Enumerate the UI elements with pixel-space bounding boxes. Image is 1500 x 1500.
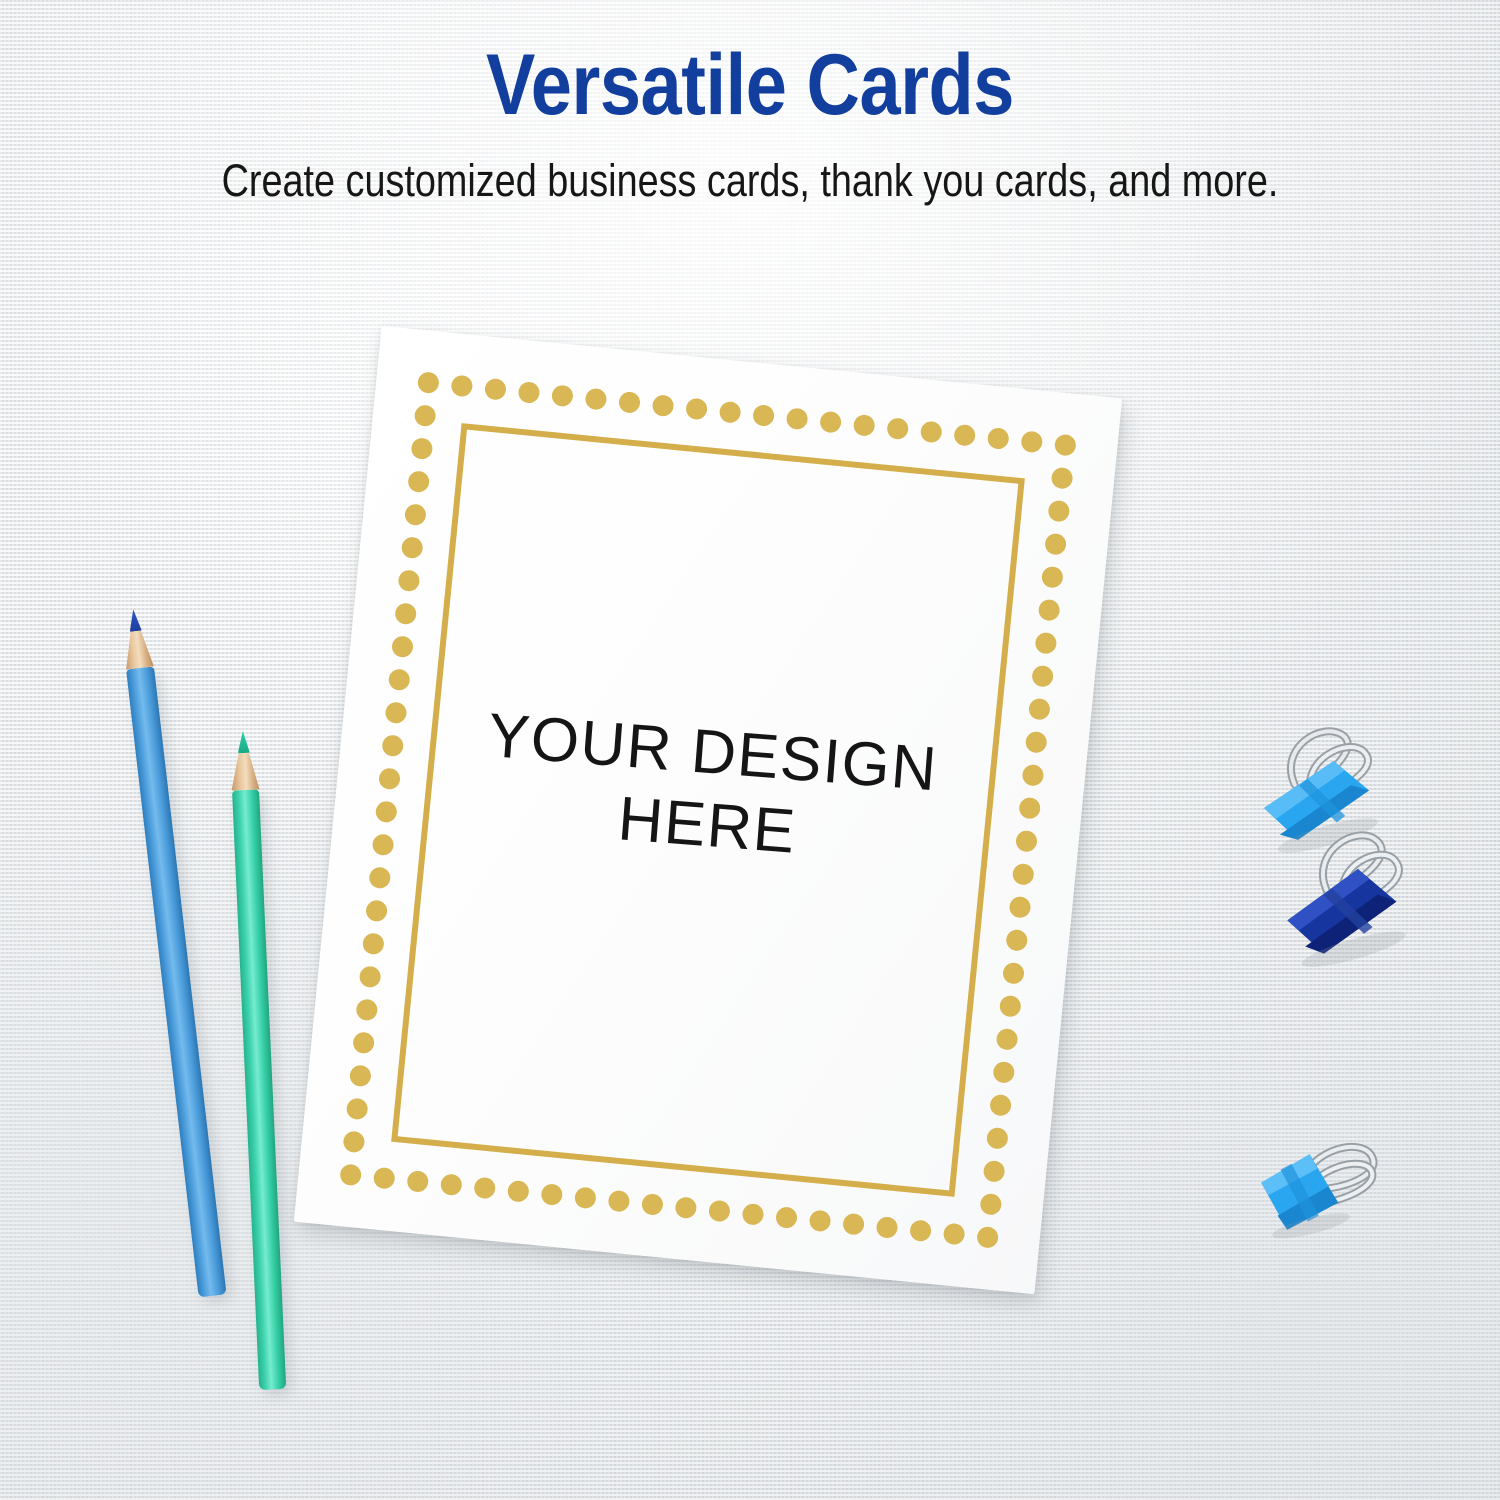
page-title: Versatile Cards (105, 0, 1395, 130)
product-lifestyle-image: Versatile Cards Create customized busine… (0, 0, 1500, 1500)
card-paper: YOUR DESIGN HERE (294, 326, 1122, 1294)
page-subtitle: Create customized business cards, thank … (120, 130, 1380, 206)
header: Versatile Cards Create customized busine… (0, 0, 1500, 205)
greeting-card: YOUR DESIGN HERE (294, 326, 1122, 1294)
